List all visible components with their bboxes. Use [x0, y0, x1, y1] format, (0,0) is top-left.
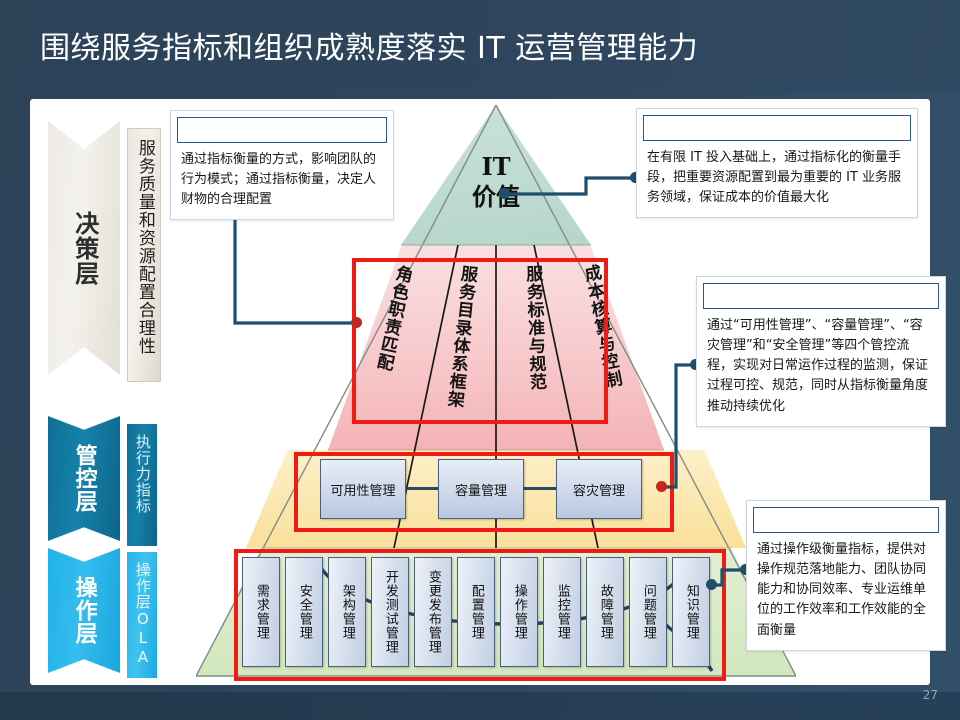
pyramid-apex-label: IT 价值: [401, 151, 591, 213]
process-label: 操作管理: [512, 584, 526, 640]
process-knowledge-management[interactable]: 知识管理: [672, 557, 710, 667]
connector-dot-apex: [499, 188, 510, 199]
callout-top-left-text: 通过指标衡量的方式，影响团队的行为模式；通过指标衡量，决定人财物的合理配置: [171, 143, 393, 219]
layer-metric-operation-label: 操作层OLA: [134, 562, 150, 667]
callout-top-left-title: 可视化管理、精准决策: [177, 117, 387, 143]
process-monitoring-management[interactable]: 监控管理: [543, 557, 581, 667]
process-label: 配置管理: [469, 584, 483, 640]
process-label: 开发测试管理: [383, 570, 397, 654]
process-availability-management[interactable]: 可用性管理: [320, 459, 406, 519]
page-number: 27: [923, 688, 938, 702]
pyramid-apex-line1: IT: [401, 151, 591, 182]
process-label: 容量管理: [455, 480, 507, 499]
callout-top-right-title: 围绕业务价值、优化服务成本: [643, 115, 911, 141]
process-configuration-management[interactable]: 配置管理: [457, 557, 495, 667]
layer-chevron-control-label: 管控层: [72, 444, 95, 513]
pyramid-apex-line2: 价值: [401, 182, 591, 213]
callout-top-right[interactable]: 围绕业务价值、优化服务成本 在有限 IT 投入基础上，通过指标化的衡量手段，把重…: [636, 108, 918, 218]
connector-dot-operation: [706, 579, 717, 590]
process-label: 知识管理: [684, 584, 698, 640]
process-label: 问题管理: [641, 584, 655, 640]
process-label: 变更发布管理: [426, 570, 440, 654]
process-demand-management[interactable]: 需求管理: [242, 557, 280, 667]
process-label: 架构管理: [340, 584, 354, 640]
process-label: 监控管理: [555, 584, 569, 640]
callout-bottom-right-title: 固化规范、增强协同能力: [753, 507, 939, 533]
page-title: 围绕服务指标和组织成熟度落实 IT 运营管理能力: [40, 23, 698, 67]
layer-metric-decision[interactable]: 服务质量和资源配置合理性: [127, 128, 161, 382]
process-incident-management[interactable]: 故障管理: [586, 557, 624, 667]
process-problem-management[interactable]: 问题管理: [629, 557, 667, 667]
layer-metric-operation[interactable]: 操作层OLA: [127, 552, 157, 678]
process-security-management[interactable]: 安全管理: [285, 557, 323, 667]
callout-middle-right-text: 通过“可用性管理”、“容量管理”、“容灾管理”和“安全管理”等四个管控流程，实现…: [697, 309, 945, 426]
slide-header: 围绕服务指标和组织成熟度落实 IT 运营管理能力: [0, 0, 960, 92]
process-label: 需求管理: [254, 584, 268, 640]
process-label: 可用性管理: [330, 480, 395, 499]
link-capacity-dr: [522, 487, 556, 490]
slide-root: 围绕服务指标和组织成熟度落实 IT 运营管理能力 决策层 服务质量和资源配置合理…: [0, 0, 960, 720]
layer-metric-decision-label: 服务质量和资源配置合理性: [135, 139, 153, 355]
process-label: 故障管理: [598, 584, 612, 640]
layer-chevron-decision[interactable]: 决策层: [48, 121, 120, 375]
layer-metric-control-label: 执行力指标: [134, 434, 150, 514]
layer-chevron-operation-label: 操作层: [72, 576, 95, 645]
process-label: 容灾管理: [573, 480, 625, 499]
layer-metric-control[interactable]: 执行力指标: [127, 424, 157, 546]
callout-top-left[interactable]: 可视化管理、精准决策 通过指标衡量的方式，影响团队的行为模式；通过指标衡量，决定…: [170, 110, 394, 220]
callout-bottom-right[interactable]: 固化规范、增强协同能力 通过操作级衡量指标，提供对操作规范落地能力、团队协同能力…: [746, 500, 946, 651]
process-operation-management[interactable]: 操作管理: [500, 557, 538, 667]
connector-dot-decision: [351, 317, 362, 328]
layer-chevron-decision-label: 决策层: [71, 211, 96, 286]
slide-footer: [0, 692, 960, 720]
operation-process-row: 需求管理 安全管理 架构管理 开发测试管理 变更发布管理 配置管理 操作管理 监…: [242, 557, 710, 665]
process-capacity-management[interactable]: 容量管理: [438, 459, 524, 519]
process-dr-management[interactable]: 容灾管理: [556, 459, 642, 519]
process-label: 安全管理: [297, 584, 311, 640]
callout-bottom-right-text: 通过操作级衡量指标，提供对操作规范落地能力、团队协同能力和协同效率、专业运维单位…: [747, 533, 945, 650]
callout-middle-right-title: 发现问题、解决问题的能力: [703, 283, 939, 309]
connector-dot-control: [656, 481, 667, 492]
highlight-frame-decision: [352, 258, 608, 424]
process-change-release-management[interactable]: 变更发布管理: [414, 557, 452, 667]
process-architecture-management[interactable]: 架构管理: [328, 557, 366, 667]
link-availability-capacity: [404, 487, 438, 490]
callout-top-right-text: 在有限 IT 投入基础上，通过指标化的衡量手段，把重要资源配置到最为重要的 IT…: [637, 141, 917, 217]
process-dev-test-management[interactable]: 开发测试管理: [371, 557, 409, 667]
layer-chevron-operation[interactable]: 操作层: [48, 548, 120, 673]
callout-middle-right[interactable]: 发现问题、解决问题的能力 通过“可用性管理”、“容量管理”、“容灾管理”和“安全…: [696, 276, 946, 427]
layer-chevron-control[interactable]: 管控层: [48, 416, 120, 541]
